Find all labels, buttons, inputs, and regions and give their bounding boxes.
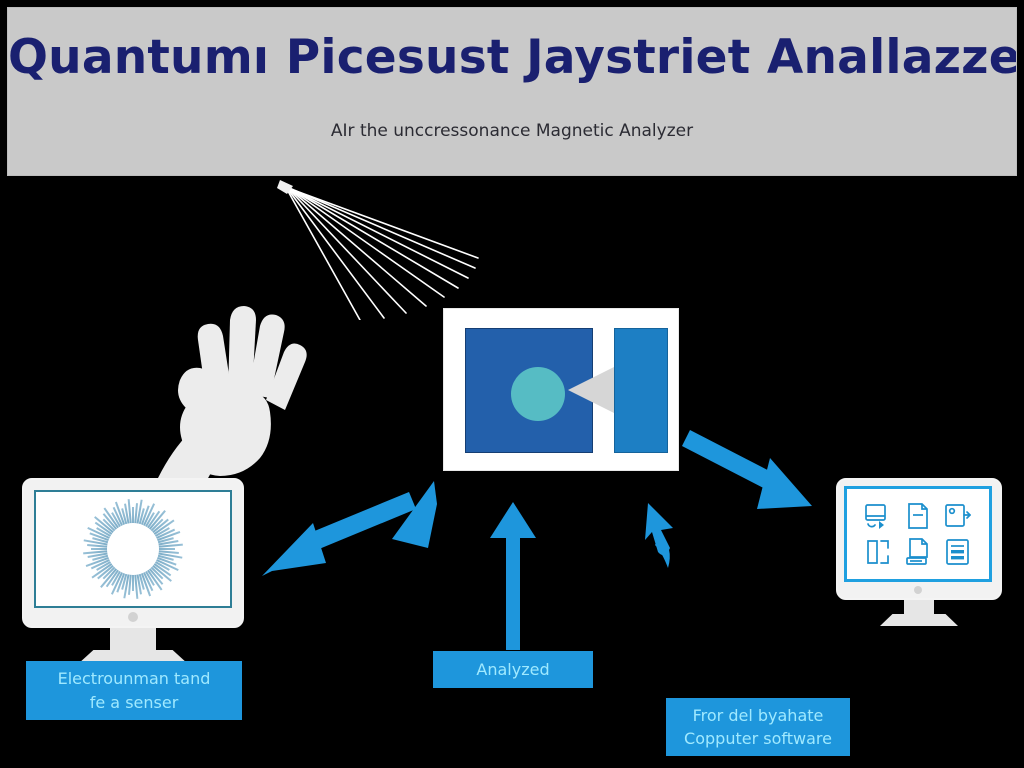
magnetic-beam-fan	[260, 170, 500, 320]
page-title: Quantumı Picesust Jaystriet Anallazzer	[8, 30, 1016, 85]
label-line-2: fe a senser	[90, 691, 179, 714]
file-scan-icon[interactable]	[899, 535, 937, 569]
label-line-1: Electrounman tand	[58, 667, 211, 690]
output-arrow	[682, 430, 812, 509]
file-split-icon[interactable]	[859, 535, 897, 569]
quantum-analyzer-unit[interactable]	[443, 308, 679, 471]
sensor-display-monitor[interactable]	[22, 478, 244, 658]
file-corner-icon[interactable]	[899, 499, 937, 533]
label-sensor[interactable]: Electrounman tand fe a senser	[26, 661, 242, 720]
file-sync-icon[interactable]	[859, 499, 897, 533]
diagram-canvas: Quantumı Picesust Jaystriet Anallazzer A…	[0, 0, 1024, 768]
radial-sunburst-graphic	[81, 497, 185, 601]
label-line-1: Analyzed	[476, 658, 549, 681]
monitor-screen	[34, 490, 232, 608]
header-banner: Quantumı Picesust Jaystriet Anallazzer A…	[7, 7, 1017, 176]
cursor-arrow	[645, 503, 673, 568]
software-output-monitor[interactable]	[836, 478, 1002, 630]
upward-arrow	[490, 502, 536, 650]
label-software[interactable]: Fror del byahate Copputer software	[666, 698, 850, 756]
analyzer-sample-circle	[511, 367, 565, 421]
page-subtitle: AIr the unccressonance Magnetic Analyzer	[8, 121, 1016, 141]
analyzer-light-panel	[614, 328, 668, 453]
sunburst-center-hole	[107, 523, 159, 575]
monitor-power-dot	[914, 586, 922, 594]
label-line-1: Fror del byahate	[693, 704, 824, 727]
label-analyzed[interactable]: Analyzed	[433, 651, 593, 688]
file-export-icon[interactable]	[939, 499, 977, 533]
file-list-icon[interactable]	[939, 535, 977, 569]
monitor-base	[880, 614, 958, 626]
monitor-power-dot	[128, 612, 138, 622]
software-icon-grid	[847, 489, 989, 579]
monitor-screen	[844, 486, 992, 582]
label-line-2: Copputer software	[684, 727, 832, 750]
